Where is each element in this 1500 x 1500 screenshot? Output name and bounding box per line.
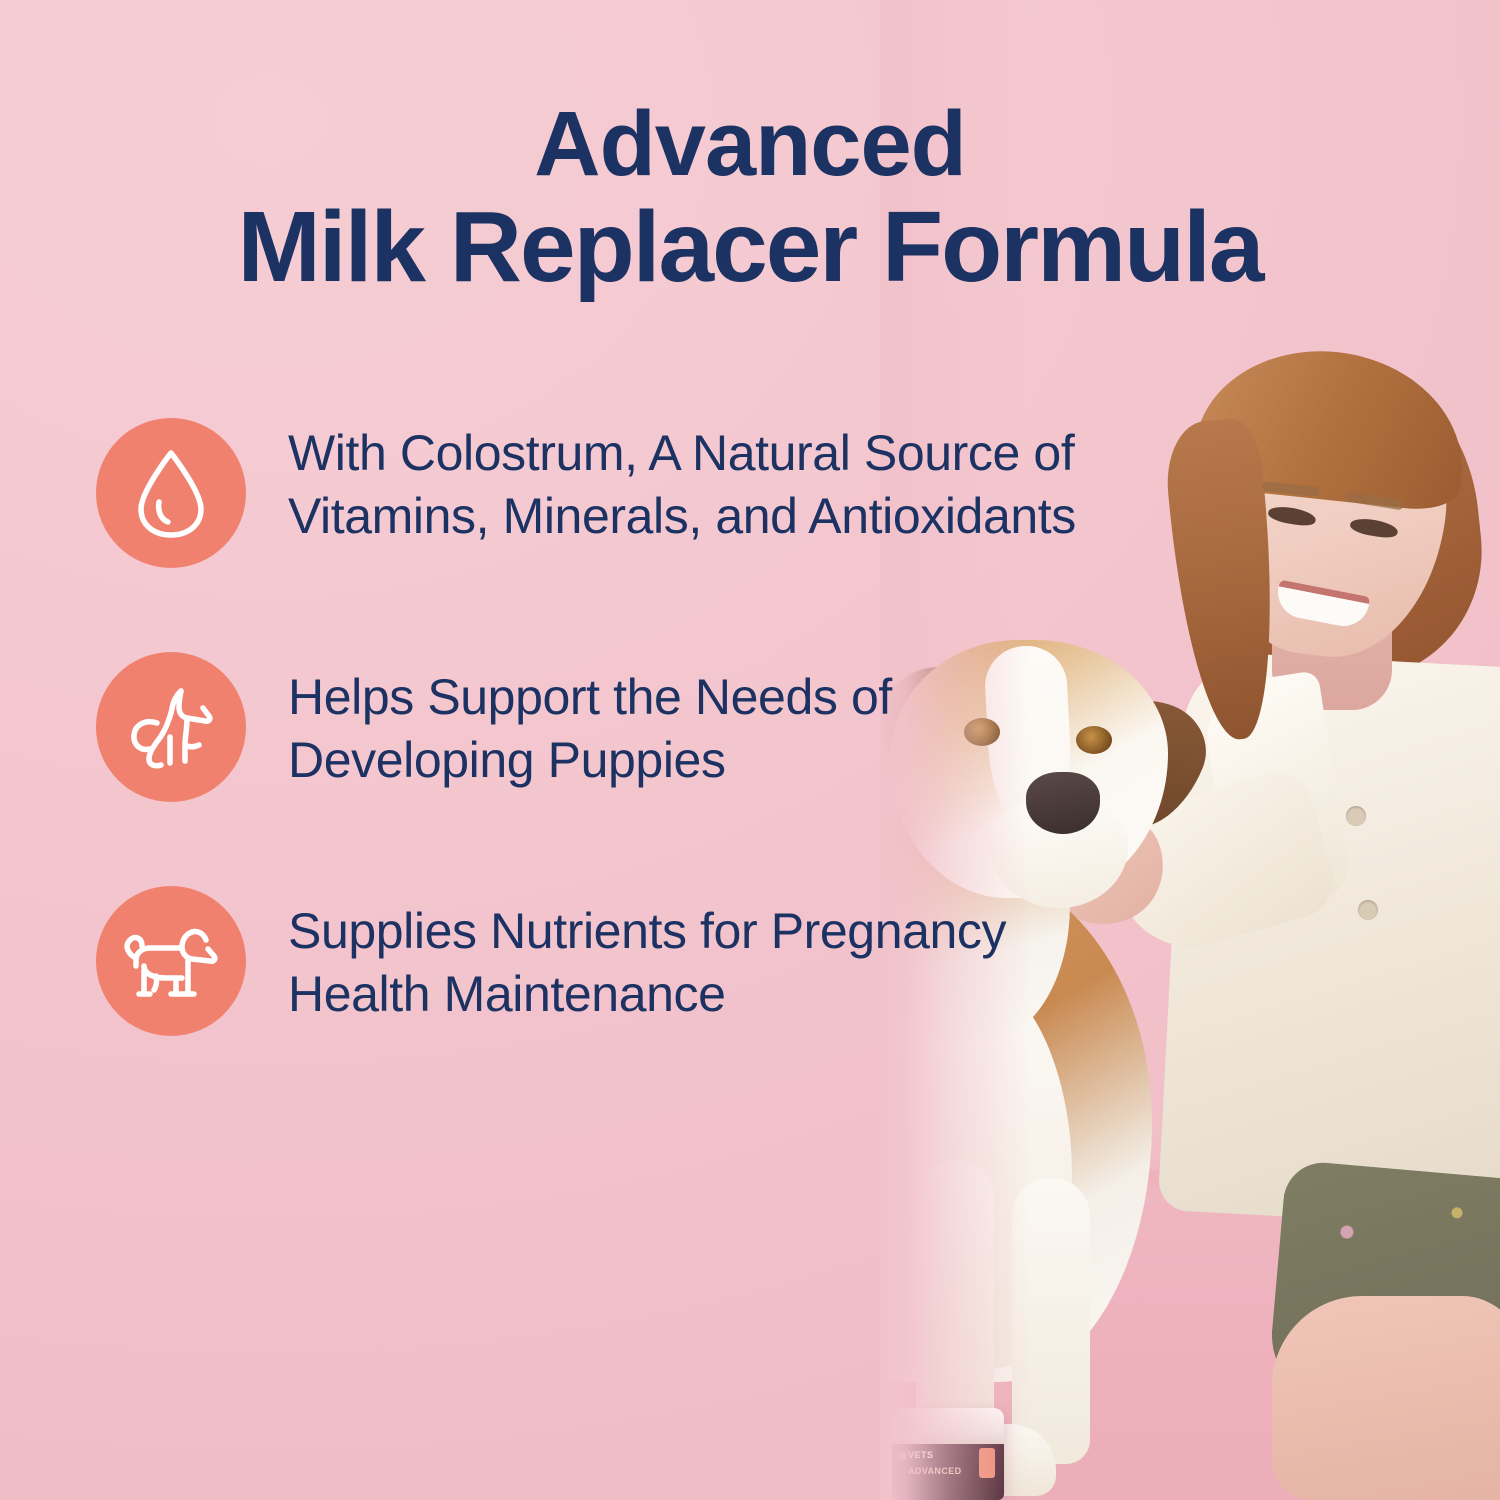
feature-list: With Colostrum, A Natural Source of Vita… xyxy=(96,418,1106,1036)
sitting-dog-icon xyxy=(96,652,246,802)
feature-text: With Colostrum, A Natural Source of Vita… xyxy=(288,418,1106,548)
feature-text: Supplies Nutrients for Pregnancy Health … xyxy=(288,886,1106,1026)
feature-item: Supplies Nutrients for Pregnancy Health … xyxy=(96,886,1106,1036)
feature-item: With Colostrum, A Natural Source of Vita… xyxy=(96,418,1106,568)
content-layer: Advanced Milk Replacer Formula With Colo… xyxy=(0,0,1500,1500)
feature-text: Helps Support the Needs of Developing Pu… xyxy=(288,652,1106,792)
droplet-icon xyxy=(96,418,246,568)
standing-dog-icon xyxy=(96,886,246,1036)
headline-line-2: Milk Replacer Formula xyxy=(70,194,1430,300)
headline-line-1: Advanced xyxy=(534,93,966,195)
page-title: Advanced Milk Replacer Formula xyxy=(0,96,1500,300)
feature-item: Helps Support the Needs of Developing Pu… xyxy=(96,652,1106,802)
promo-banner: VETS ADVANCED Advanced Milk Replacer For… xyxy=(0,0,1500,1500)
